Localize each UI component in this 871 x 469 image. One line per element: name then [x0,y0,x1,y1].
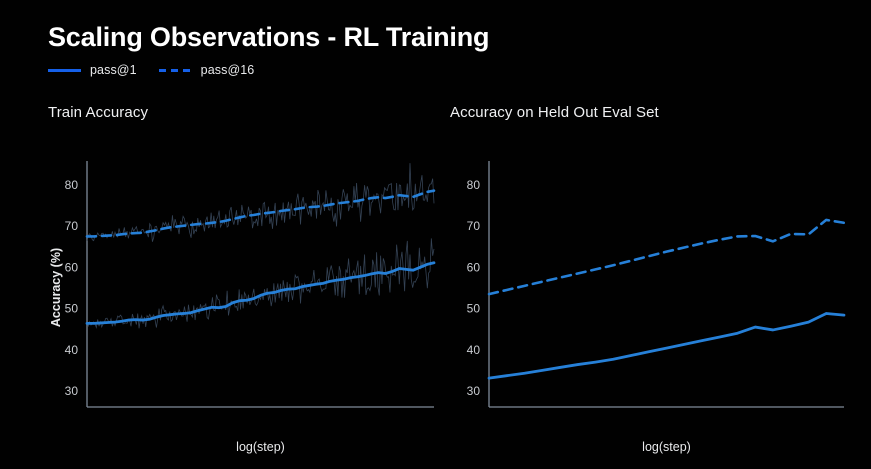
panel-train-accuracy: Train Accuracy 304050607080log(step)Accu… [48,104,440,469]
x-axis-label: log(step) [642,440,691,454]
legend-item-pass16: pass@16 [159,63,255,77]
y-tick-label: 30 [65,384,79,398]
y-tick-label: 80 [65,178,79,192]
panel-title-held-out: Accuracy on Held Out Eval Set [450,104,850,121]
y-tick-label: 70 [65,219,79,233]
y-tick-label: 70 [467,219,481,233]
panel-held-out-eval: Accuracy on Held Out Eval Set 3040506070… [450,104,850,469]
chart-train-wrap: 304050607080log(step)Accuracy (%) [48,129,440,469]
series-line-pass-at-1 [489,313,844,378]
y-tick-label: 30 [467,384,481,398]
raw-data-trace [87,163,434,242]
raw-data-trace [87,238,434,328]
y-tick-label: 40 [65,343,79,357]
series-line-pass-at-16 [489,220,844,294]
y-tick-label: 80 [467,178,481,192]
y-tick-label: 50 [467,302,481,316]
panel-title-train: Train Accuracy [48,104,440,121]
series-line-pass-at-1 [87,263,434,324]
legend-label-pass16: pass@16 [201,63,255,77]
y-tick-label: 50 [65,302,79,316]
x-axis-label: log(step) [236,440,285,454]
y-axis-label: Accuracy (%) [49,248,63,327]
page-title: Scaling Observations - RL Training [48,22,489,53]
y-tick-label: 60 [467,260,481,274]
legend-item-pass1: pass@1 [48,63,137,77]
chart-held-out-wrap: 304050607080log(step) [450,129,850,469]
chart-held-out-eval: 304050607080log(step) [450,129,850,469]
chart-train-accuracy: 304050607080log(step)Accuracy (%) [48,129,440,469]
legend-label-pass1: pass@1 [90,63,137,77]
legend-line-dashed-icon [159,69,192,72]
legend-line-solid-icon [48,69,81,72]
y-tick-label: 40 [467,343,481,357]
slide-root: Scaling Observations - RL Training pass@… [0,0,871,448]
y-tick-label: 60 [65,260,79,274]
chart-legend: pass@1 pass@16 [48,63,254,77]
